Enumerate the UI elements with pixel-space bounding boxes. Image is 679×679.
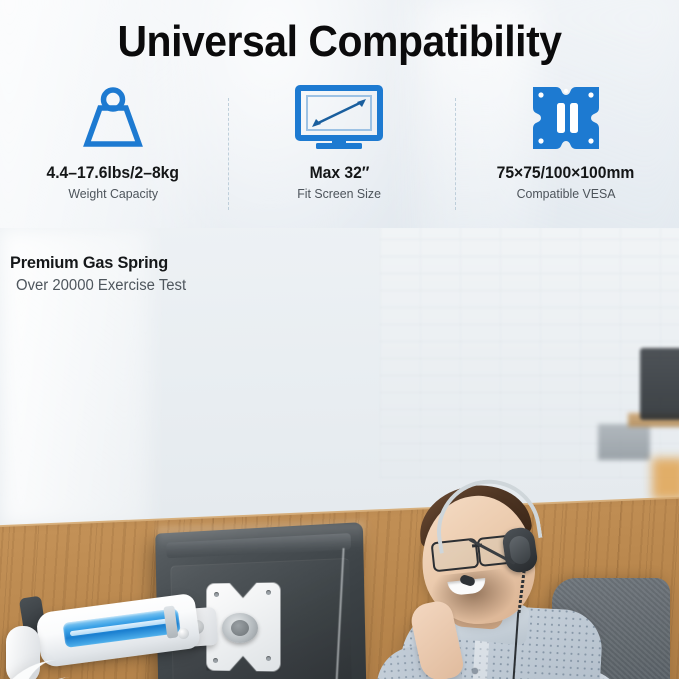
- feature-divider: [455, 98, 456, 210]
- feature-row: 4.4–17.6lbs/2–8kg Weight Capacity Max 32…: [0, 82, 679, 212]
- page-title: Universal Compatibility: [24, 16, 655, 68]
- tension-adjust-knob: [178, 628, 189, 639]
- feature-weight-capacity: 4.4–17.6lbs/2–8kg Weight Capacity: [0, 82, 226, 201]
- vesa-screw: [266, 656, 271, 661]
- product-scene-photo: [0, 228, 679, 679]
- feature-vesa: 75×75/100×100mm Compatible VESA: [453, 82, 679, 201]
- vesa-tilt-pin: [231, 620, 249, 636]
- feature-subtitle: Fit Screen Size: [298, 186, 382, 201]
- shirt-button: [472, 668, 478, 674]
- background-monitor: [640, 348, 679, 420]
- background-orange-object: [652, 458, 679, 500]
- monitor-diagonal-icon: [294, 82, 384, 154]
- feature-divider: [228, 98, 229, 210]
- monitor-top-highlight: [157, 521, 365, 552]
- feature-subtitle: Weight Capacity: [68, 186, 158, 201]
- feature-title: Max 32″: [310, 164, 370, 183]
- caption-subheading: Over 20000 Exercise Test: [16, 277, 186, 295]
- feature-subtitle: Compatible VESA: [516, 186, 615, 201]
- background-equipment: [598, 424, 650, 460]
- vesa-screw: [214, 592, 219, 597]
- feature-title: 75×75/100×100mm: [497, 164, 635, 183]
- vesa-plate-icon: [530, 82, 602, 154]
- feature-screen-size: Max 32″ Fit Screen Size: [226, 82, 452, 201]
- caption-heading: Premium Gas Spring: [10, 253, 186, 273]
- product-infographic: Universal Compatibility 4.4–17.6lbs/2–8k…: [0, 0, 679, 679]
- vesa-screw: [213, 658, 218, 663]
- feature-title: 4.4–17.6lbs/2–8kg: [47, 164, 179, 183]
- weight-icon: [80, 82, 146, 154]
- vesa-screw: [266, 590, 271, 595]
- gas-spring-caption: Premium Gas Spring Over 20000 Exercise T…: [10, 253, 193, 295]
